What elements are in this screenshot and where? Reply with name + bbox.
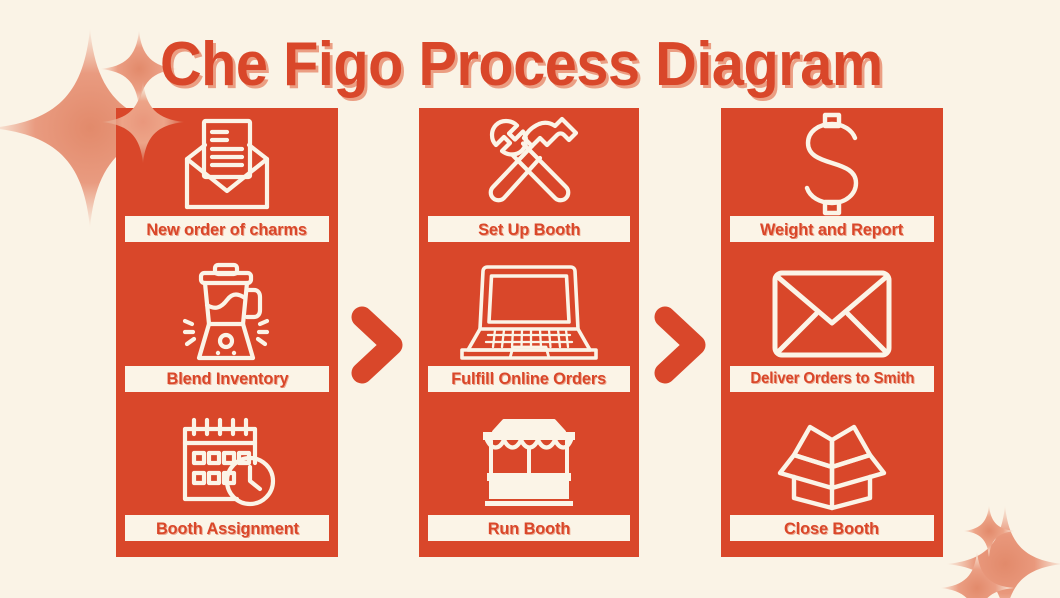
step-label-text: Weight and Report — [760, 221, 903, 238]
hammer-wrench-icon — [419, 108, 639, 216]
step-label-text: Set Up Booth — [478, 221, 580, 238]
step-label-text: Booth Assignment — [156, 520, 299, 537]
process-step[interactable]: Close Booth — [721, 407, 943, 557]
mail-envelope-icon — [721, 258, 943, 366]
arrow-col2-to-col3 — [652, 305, 710, 385]
blender-icon — [116, 258, 338, 366]
step-label-bar: Fulfill Online Orders — [428, 366, 630, 392]
laptop-icon — [419, 258, 639, 366]
arrow-col1-to-col2 — [349, 305, 407, 385]
page-title: Che Figo Process Diagram — [160, 30, 883, 100]
step-label-text: New order of charms — [147, 221, 308, 238]
step-label-bar: Blend Inventory — [125, 366, 329, 392]
step-label-bar: Run Booth — [428, 515, 630, 541]
envelope-document-icon — [116, 108, 338, 216]
sparkle-small-bottom-right — [940, 551, 1014, 598]
process-step[interactable]: Blend Inventory — [116, 258, 338, 408]
market-stall-icon — [419, 407, 639, 515]
process-step[interactable]: Deliver Orders to Smith — [721, 258, 943, 408]
process-step[interactable]: New order of charms — [116, 108, 338, 258]
step-label-bar: Weight and Report — [730, 216, 934, 242]
sparkle-tiny-bottom-right — [963, 505, 1015, 557]
step-label-text: Fulfill Online Orders — [452, 370, 607, 387]
step-label-bar: Booth Assignment — [125, 515, 329, 541]
step-label-text: Run Booth — [488, 520, 571, 537]
step-label-bar: Deliver Orders to Smith — [730, 366, 934, 392]
step-label-bar: Close Booth — [730, 515, 934, 541]
process-column-1: New order of charms — [116, 108, 338, 557]
calendar-clock-icon — [116, 407, 338, 515]
process-step[interactable]: Run Booth — [419, 407, 639, 557]
step-label-text: Deliver Orders to Smith — [750, 370, 914, 387]
process-step[interactable]: Booth Assignment — [116, 407, 338, 557]
dollar-sign-icon — [721, 108, 943, 216]
process-column-3: Weight and Report Deliver Orders to Smit… — [721, 108, 943, 557]
step-label-text: Close Booth — [784, 520, 879, 537]
step-label-bar: Set Up Booth — [428, 216, 630, 242]
step-label-text: Blend Inventory — [166, 370, 288, 387]
sparkle-large-bottom-right — [946, 505, 1060, 598]
process-diagram-canvas: Che Figo Process Diagram New o — [0, 0, 1060, 598]
step-label-bar: New order of charms — [125, 216, 329, 242]
open-box-icon — [721, 407, 943, 515]
process-step[interactable]: Weight and Report — [721, 108, 943, 258]
process-step[interactable]: Set Up Booth — [419, 108, 639, 258]
process-column-2: Set Up Booth — [419, 108, 639, 557]
process-step[interactable]: Fulfill Online Orders — [419, 258, 639, 408]
